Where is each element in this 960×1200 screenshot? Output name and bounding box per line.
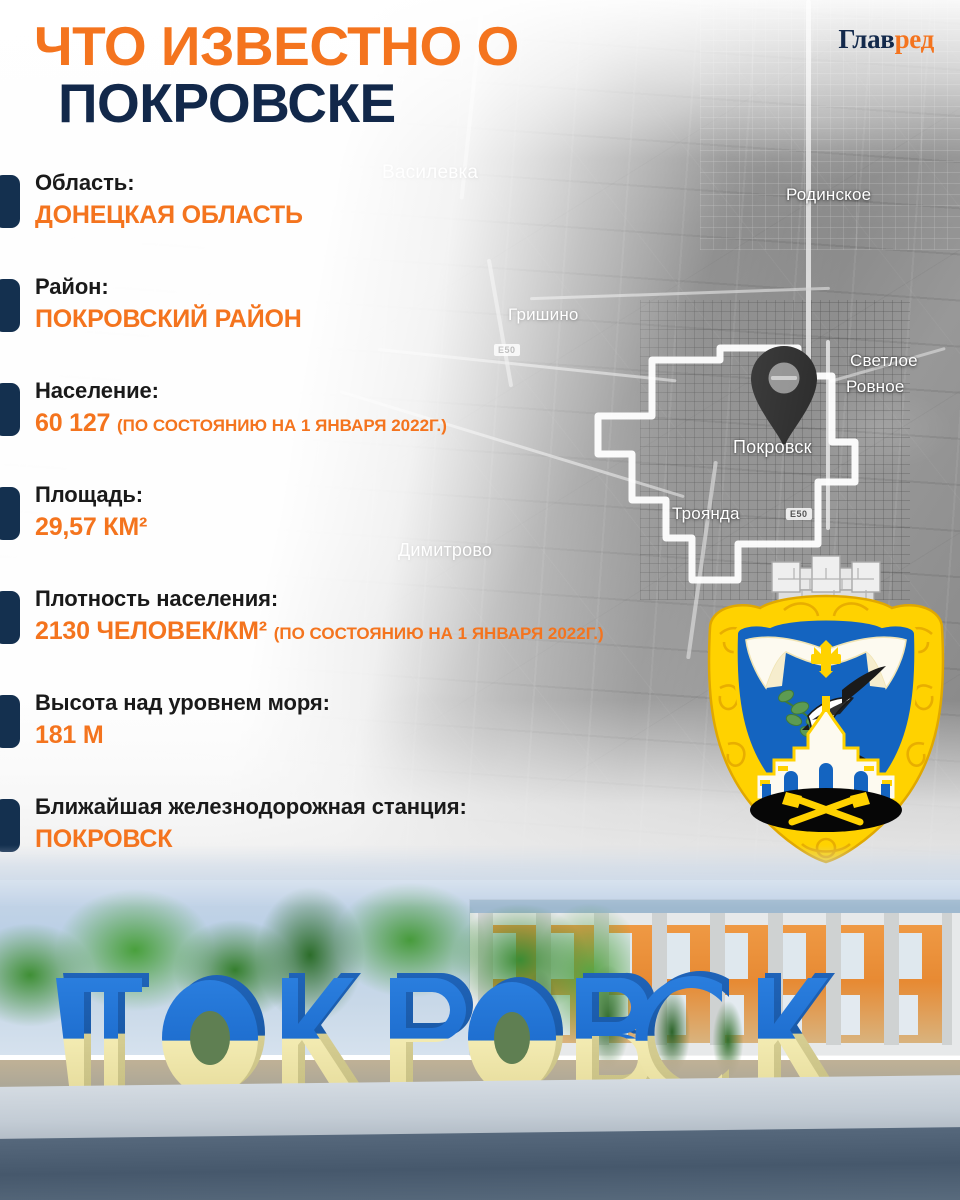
fact-value: ПОКРОВСКИЙ РАЙОН [35,305,302,334]
fact-value: 60 127 (ПО СОСТОЯНИЮ НА 1 ЯНВАРЯ 2022Г.) [35,409,447,438]
coat-of-arms [690,548,960,868]
logo-text-accent: ред [895,24,934,54]
fact-value-text: ДОНЕЦКАЯ ОБЛАСТЬ [35,201,303,229]
infographic-poster: E50 E50 Василевка Родинское Гришино Свет… [0,0,960,1200]
bullet-marker-icon [0,383,20,436]
fact-label: Площадь: [35,482,143,508]
bullet-marker-icon [0,279,20,332]
fact-label: Район: [35,274,109,300]
logo-text-primary: Глав [838,24,894,54]
fact-row-area: Площадь: 29,57 КМ² [0,482,760,586]
map-label-rivne: Ровное [846,377,905,397]
fact-row-density: Плотность населения: 2130 ЧЕЛОВЕК/КМ² (П… [0,586,760,690]
sign-letter-O1 [162,975,265,1096]
fact-row-elevation: Высота над уровнем моря: 181 М [0,690,760,794]
page-title: ЧТО ИЗВЕСТНО О ПОКРОВСКЕ [34,18,674,131]
bullet-marker-icon [0,487,20,540]
fact-row-region: Область: ДОНЕЦКАЯ ОБЛАСТЬ [0,170,760,274]
highway-shield-e50-south: E50 [786,508,812,520]
fact-value: 2130 ЧЕЛОВЕК/КМ² (ПО СОСТОЯНИЮ НА 1 ЯНВА… [35,617,604,646]
fact-label: Население: [35,378,159,404]
fact-value-text: 181 М [35,721,103,749]
sign-letter-K1 [282,973,363,1094]
fact-label: Плотность населения: [35,586,278,612]
city-sign-photo [0,845,960,1200]
fact-row-population: Население: 60 127 (ПО СОСТОЯНИЮ НА 1 ЯНВ… [0,378,760,482]
glavred-logo[interactable]: Главред [838,26,934,53]
fact-label: Ближайшая железнодорожная станция: [35,794,467,820]
fact-value-note: (ПО СОСТОЯНИЮ НА 1 ЯНВАРЯ 2022Г.) [117,416,447,435]
fact-value: 29,57 КМ² [35,513,147,542]
map-road-ns-main [806,0,811,360]
sign-letter-R [390,973,473,1094]
fact-value-text: 60 127 [35,409,110,437]
fact-value-text: 29,57 КМ² [35,513,147,541]
map-label-rodynske: Родинское [786,185,871,205]
fact-list: Область: ДОНЕЦКАЯ ОБЛАСТЬ Район: ПОКРОВС… [0,170,760,898]
crossed-hammers-icon [750,788,902,832]
page-title-line1: ЧТО ИЗВЕСТНО О [34,18,674,75]
fact-row-district: Район: ПОКРОВСКИЙ РАЙОН [0,274,760,378]
fact-value: ДОНЕЦКАЯ ОБЛАСТЬ [35,201,303,230]
fact-value-text: 2130 ЧЕЛОВЕК/КМ² [35,617,267,645]
bullet-marker-icon [0,591,20,644]
bullet-marker-icon [0,175,20,228]
sign-letter-P1 [56,973,149,1094]
fact-value-note: (ПО СОСТОЯНИЮ НА 1 ЯНВАРЯ 2022Г.) [274,624,604,643]
fact-label: Высота над уровнем моря: [35,690,330,716]
photo-foreground-wall [0,1127,960,1200]
fact-label: Область: [35,170,134,196]
page-title-line2: ПОКРОВСКЕ [34,75,674,132]
sign-letter-O2 [468,977,563,1094]
map-label-svitle: Светлое [850,351,918,371]
bullet-marker-icon [0,695,20,748]
fact-value: 181 М [35,721,103,750]
fact-value-text: ПОКРОВСКИЙ РАЙОН [35,305,302,333]
